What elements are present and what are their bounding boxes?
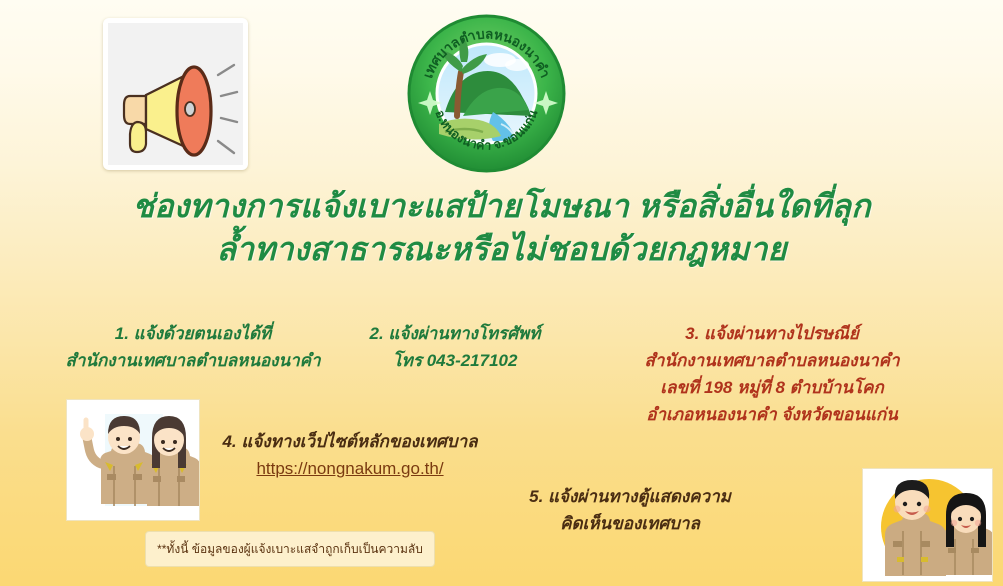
municipality-seal: เทศบาลตำบลหนองนาคำ อ.หนองนาคำ จ.ขอนแก่น [405,12,568,175]
channel-5-line-1: คิดเห็นของเทศบาล [500,510,760,537]
municipality-seal-svg: เทศบาลตำบลหนองนาคำ อ.หนองนาคำ จ.ขอนแก่น [405,12,568,175]
confidentiality-note-text: **ทั้งนี้ ข้อมูลของผู้แจ้งเบาะแสจำถูกเก็… [157,540,423,559]
officials-photo-left [66,399,200,521]
channel-2-phone: โทร 043-217102 [345,347,565,374]
channel-2-heading: 2. แจ้งผ่านทางโทรศัพท์ [345,320,565,347]
title-line-2: ล้ำทางสาธารณะหรือไม่ชอบด้วยกฎหมาย [0,228,1003,271]
female-official-figure-2 [940,493,992,575]
poster-title: ช่องทางการแจ้งเบาะแสป้ายโมษณา หรือสิ่งอื… [0,185,1003,271]
officials-cartoon-right-svg [863,469,992,581]
channel-5-heading: 5. แจ้งผ่านทางตู้แสดงความ [500,483,760,510]
poster-canvas: เทศบาลตำบลหนองนาคำ อ.หนองนาคำ จ.ขอนแก่น … [0,0,1003,586]
megaphone-icon-svg [108,23,243,165]
officials-cartoon-left-svg [67,400,199,520]
channel-4-heading: 4. แจ้งทางเว็ปไซต์หลักของเทศบาล [200,428,500,455]
channel-1-line-1: สำนักงานเทศบาลตำบลหนองนาคำ [58,347,328,374]
channel-1: 1. แจ้งด้วยตนเองได้ที่ สำนักงานเทศบาลตำบ… [58,320,328,374]
channel-3-line-2: เลขที่ 198 หมู่ที่ 8 ตำบบ้านโคก [612,374,932,401]
channel-1-heading: 1. แจ้งด้วยตนเองได้ที่ [58,320,328,347]
channel-3-line-3: อำเภอหนองนาคำ จังหวัดขอนแก่น [612,401,932,428]
title-line-1: ช่องทางการแจ้งเบาะแสป้ายโมษณา หรือสิ่งอื… [0,185,1003,228]
channel-2: 2. แจ้งผ่านทางโทรศัพท์ โทร 043-217102 [345,320,565,374]
website-link[interactable]: https://nongnakum.go.th/ [200,455,500,482]
channel-3-heading: 3. แจ้งผ่านทางไปรษณีย์ [612,320,932,347]
channel-3: 3. แจ้งผ่านทางไปรษณีย์ สำนักงานเทศบาลตำบ… [612,320,932,428]
megaphone-icon [108,23,243,165]
channel-3-line-1: สำนักงานเทศบาลตำบลหนองนาคำ [612,347,932,374]
officials-photo-right [862,468,993,582]
confidentiality-note-box: **ทั้งนี้ ข้อมูลของผู้แจ้งเบาะแสจำถูกเก็… [145,531,435,567]
channel-4: 4. แจ้งทางเว็ปไซต์หลักของเทศบาล https://… [200,428,500,482]
channel-5: 5. แจ้งผ่านทางตู้แสดงความ คิดเห็นของเทศบ… [500,483,760,537]
megaphone-image-card [103,18,248,170]
